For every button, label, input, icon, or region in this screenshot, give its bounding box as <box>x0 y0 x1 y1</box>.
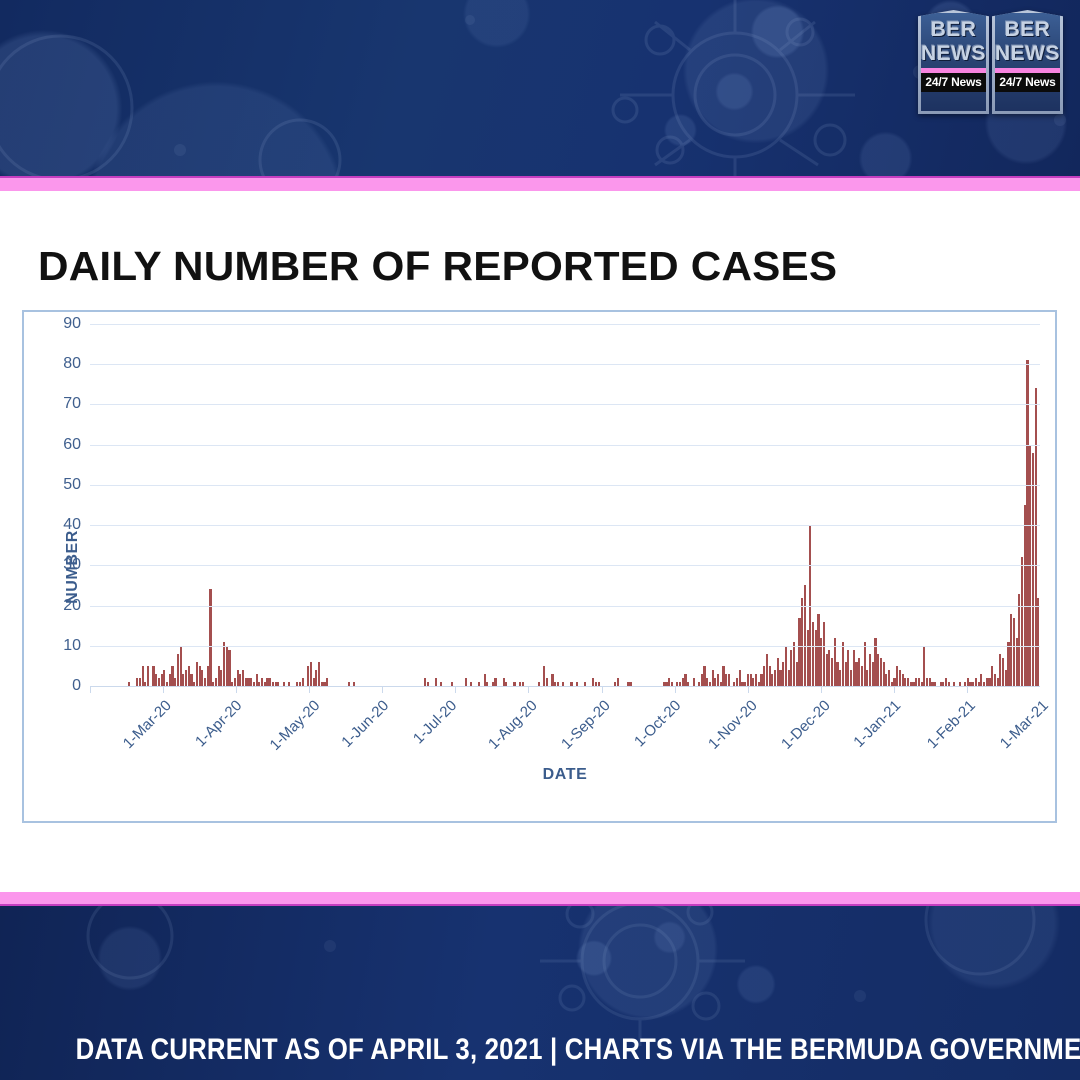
gridline-90 <box>90 324 1040 325</box>
y-tick-label-80: 80 <box>63 355 81 373</box>
y-tick-label-30: 30 <box>63 556 81 574</box>
x-tick-mark-5 <box>455 686 456 693</box>
logo-news-text: NEWS <box>921 43 986 64</box>
x-tick-mark-3 <box>309 686 310 693</box>
x-tick-label-1: 1-Apr-20 <box>192 697 245 750</box>
top-banner: BER NEWS 24/7 News BER NEWS 24/7 News <box>0 0 1080 176</box>
bar-series <box>90 324 1040 686</box>
x-tick-label-3: 1-Jun-20 <box>339 697 393 751</box>
bar <box>728 674 730 686</box>
bar <box>228 650 230 686</box>
divider-pink-top <box>0 176 1080 191</box>
gridline-80 <box>90 364 1040 365</box>
y-tick-label-70: 70 <box>63 395 81 413</box>
logo-panel-right: BER NEWS 24/7 News <box>992 10 1063 114</box>
plot-area: 01020304050607080901-Mar-201-Apr-201-May… <box>90 324 1040 686</box>
y-tick-label-40: 40 <box>63 516 81 534</box>
bernews-logo[interactable]: BER NEWS 24/7 News BER NEWS 24/7 News <box>918 10 1056 114</box>
x-tick-mark-8 <box>675 686 676 693</box>
y-tick-label-20: 20 <box>63 597 81 615</box>
divider-pink-bottom <box>0 892 1080 906</box>
x-tick-mark-1 <box>163 686 164 693</box>
y-tick-label-50: 50 <box>63 476 81 494</box>
bar <box>326 678 328 686</box>
page-title: DAILY NUMBER OF REPORTED CASES <box>38 243 837 290</box>
gridline-10 <box>90 646 1040 647</box>
x-tick-mark-6 <box>528 686 529 693</box>
gridline-50 <box>90 485 1040 486</box>
x-tick-label-12: 1-Mar-21 <box>997 697 1052 752</box>
bar <box>465 678 467 686</box>
x-tick-label-7: 1-Oct-20 <box>631 697 684 750</box>
x-tick-label-8: 1-Nov-20 <box>705 697 761 753</box>
x-tick-mark-7 <box>602 686 603 693</box>
logo-panel-left: BER NEWS 24/7 News <box>918 10 989 114</box>
x-tick-label-9: 1-Dec-20 <box>778 697 834 753</box>
gridline-0 <box>90 686 1040 687</box>
x-tick-mark-11 <box>894 686 895 693</box>
x-axis-title: DATE <box>90 766 1040 784</box>
gridline-40 <box>90 525 1040 526</box>
x-tick-mark-0 <box>90 686 91 693</box>
x-tick-mark-12 <box>967 686 968 693</box>
x-tick-label-11: 1-Feb-21 <box>924 697 979 752</box>
x-tick-mark-9 <box>748 686 749 693</box>
y-tick-label-90: 90 <box>63 315 81 333</box>
x-tick-label-5: 1-Aug-20 <box>485 697 541 753</box>
bar <box>546 678 548 686</box>
gridline-60 <box>90 445 1040 446</box>
bar <box>302 678 304 686</box>
y-tick-label-0: 0 <box>72 677 81 695</box>
y-tick-label-10: 10 <box>63 637 81 655</box>
x-tick-label-0: 1-Mar-20 <box>120 697 175 752</box>
gridline-70 <box>90 404 1040 405</box>
bar <box>617 678 619 686</box>
chart-container: NUMBER 01020304050607080901-Mar-201-Apr-… <box>22 310 1057 823</box>
bar <box>435 678 437 686</box>
logo-ber-text: BER <box>931 19 977 40</box>
gridline-30 <box>90 565 1040 566</box>
logo-ber-text-2: BER <box>1005 19 1051 40</box>
x-tick-label-4: 1-Jul-20 <box>410 697 460 747</box>
x-tick-label-6: 1-Sep-20 <box>559 697 615 753</box>
bar <box>494 678 496 686</box>
bar <box>209 589 211 686</box>
x-tick-label-2: 1-May-20 <box>267 697 324 754</box>
x-tick-mark-4 <box>382 686 383 693</box>
logo-news-text-2: NEWS <box>995 43 1060 64</box>
bar <box>147 666 149 686</box>
gridline-20 <box>90 606 1040 607</box>
logo-tagline-right: 24/7 News <box>995 73 1060 92</box>
logo-tagline-left: 24/7 News <box>921 73 986 92</box>
x-tick-label-10: 1-Jan-21 <box>850 697 904 751</box>
footer-caption: DATA CURRENT AS OF APRIL 3, 2021 | CHART… <box>76 1033 1005 1067</box>
bar <box>1037 598 1039 686</box>
x-tick-mark-10 <box>821 686 822 693</box>
y-tick-label-60: 60 <box>63 436 81 454</box>
x-tick-mark-2 <box>236 686 237 693</box>
bar <box>693 678 695 686</box>
